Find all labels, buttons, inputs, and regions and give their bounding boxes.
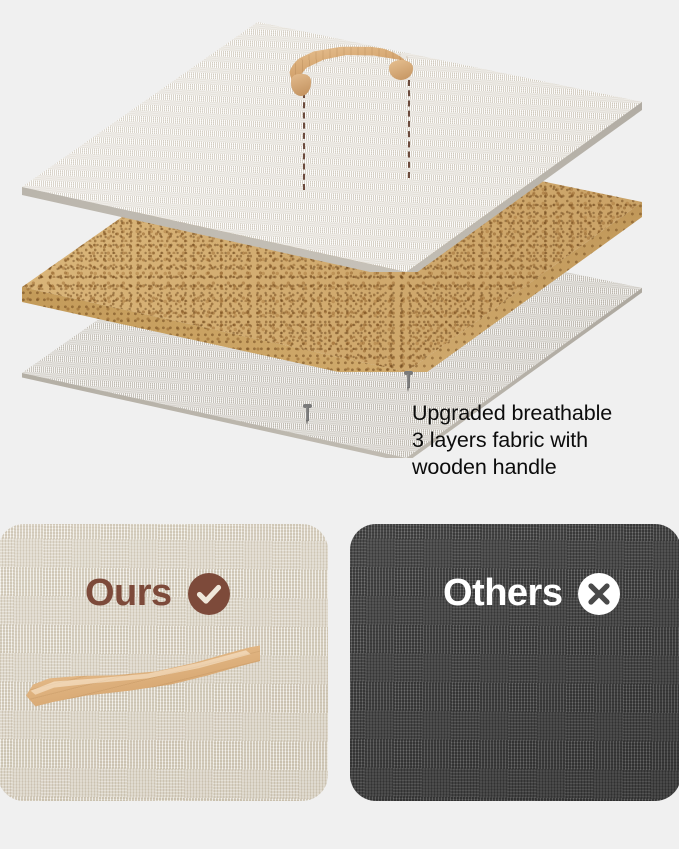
handle-foot-right <box>389 60 413 80</box>
screw-icon <box>404 371 413 393</box>
ours-wooden-handle-photo <box>26 644 260 722</box>
feature-caption: Upgraded breathable 3 layers fabric with… <box>412 400 674 481</box>
exploded-layer-diagram: Upgraded breathable 3 layers fabric with… <box>0 0 679 510</box>
handle-foot-left <box>291 74 311 96</box>
comparison-panels: Ours Others <box>0 524 679 801</box>
check-circle-icon <box>188 573 230 615</box>
x-circle-icon <box>578 573 620 615</box>
screw-shaft <box>407 374 410 388</box>
caption-line-3: wooden handle <box>412 454 674 481</box>
others-label: Others <box>443 572 562 615</box>
wooden-handle-icon <box>289 44 413 96</box>
caption-line-1: Upgraded breathable <box>412 400 674 427</box>
ours-label: Ours <box>85 572 172 615</box>
panel-ours <box>0 524 328 801</box>
ours-label-row: Ours <box>85 572 230 615</box>
screw-icon <box>303 404 312 426</box>
others-label-row: Others <box>443 572 620 615</box>
panel-others <box>350 524 679 801</box>
screw-tip <box>407 387 409 392</box>
alignment-dashed-line-left <box>303 92 305 190</box>
caption-line-2: 3 layers fabric with <box>412 427 674 454</box>
screw-shaft <box>306 407 309 421</box>
screw-tip <box>306 420 308 425</box>
infographic-root: Upgraded breathable 3 layers fabric with… <box>0 0 679 849</box>
